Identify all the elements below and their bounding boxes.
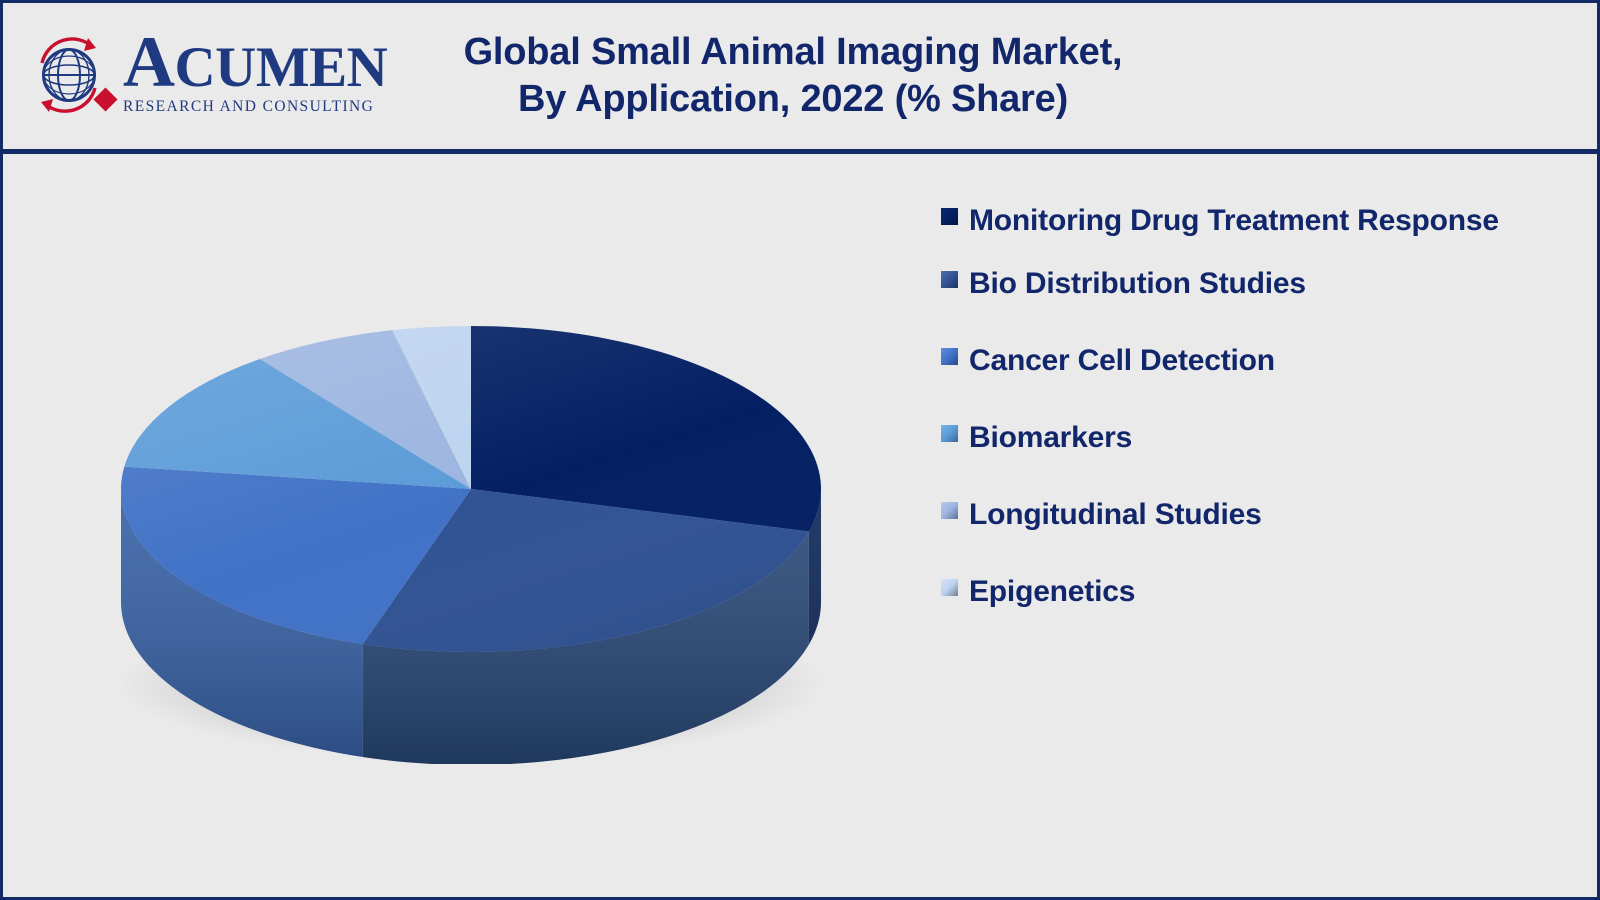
legend-item-cancer-cell-detection[interactable]: Cancer Cell Detection [941,339,1561,382]
chart-legend: Monitoring Drug Treatment Response Bio D… [941,199,1561,613]
legend-item-biomarkers[interactable]: Biomarkers [941,416,1561,459]
legend-label: Epigenetics [969,570,1135,613]
page-title: Global Small Animal Imaging Market, By A… [393,29,1193,123]
legend-label: Cancer Cell Detection [969,339,1275,382]
chart-infographic: ACUMEN RESEARCH AND CONSULTING Global Sm… [0,0,1600,900]
legend-item-monitoring-drug-treatment-response[interactable]: Monitoring Drug Treatment Response [941,199,1561,242]
globe-icon [31,31,121,119]
chart-body: Monitoring Drug Treatment Response Bio D… [3,154,1597,900]
legend-label: Biomarkers [969,416,1132,459]
pie-top-sheen [121,326,821,652]
legend-swatch-icon [941,208,958,225]
legend-swatch-icon [941,348,958,365]
header: ACUMEN RESEARCH AND CONSULTING Global Sm… [3,3,1597,151]
logo-initial: A [123,22,175,102]
acumen-logo: ACUMEN RESEARCH AND CONSULTING [31,29,371,121]
legend-label: Longitudinal Studies [969,493,1262,536]
legend-swatch-icon [941,502,958,519]
title-line-2: By Application, 2022 (% Share) [393,76,1193,123]
legend-swatch-icon [941,579,958,596]
legend-swatch-icon [941,425,958,442]
logo-tagline: RESEARCH AND CONSULTING [123,98,373,116]
legend-item-epigenetics[interactable]: Epigenetics [941,570,1561,613]
legend-label: Bio Distribution Studies [969,262,1306,305]
legend-label: Monitoring Drug Treatment Response [969,199,1499,242]
legend-item-bio-distribution-studies[interactable]: Bio Distribution Studies [941,262,1561,305]
pie-top-face [121,326,821,652]
legend-item-longitudinal-studies[interactable]: Longitudinal Studies [941,493,1561,536]
title-line-1: Global Small Animal Imaging Market, [393,29,1193,76]
logo-name-rest: CUMEN [175,36,388,99]
logo-wordmark: ACUMEN [123,33,373,97]
legend-swatch-icon [941,271,958,288]
pie-chart [63,264,883,764]
pie-chart-svg [63,264,883,764]
